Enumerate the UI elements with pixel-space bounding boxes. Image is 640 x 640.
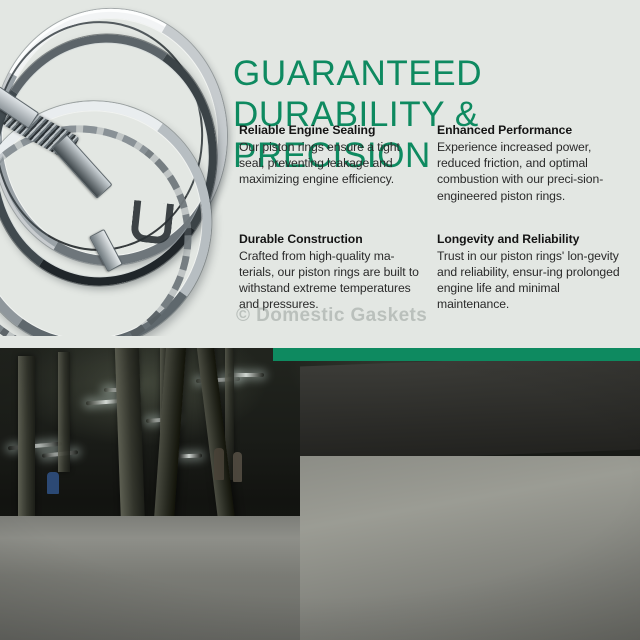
piston-ring-product-image [0,6,236,336]
feature-title: Reliable Engine Sealing [239,122,426,138]
factory-back-wall [300,353,640,462]
worker-silhouette [214,448,224,480]
feature-grid: Reliable Engine Sealing Our piston rings… [239,122,635,313]
feature-row: Durable Construction Crafted from high-q… [239,231,635,313]
promo-poster: GUARANTEED DURABILITY & PRECISION Reliab… [0,0,640,640]
feature-item-enhanced-performance: Enhanced Performance Experience increase… [437,122,635,204]
feature-row: Reliable Engine Sealing Our piston rings… [239,122,635,204]
structural-beam [18,356,35,516]
feature-body: Trust in our piston rings' lon-gevity an… [437,248,624,313]
top-content-panel: GUARANTEED DURABILITY & PRECISION Reliab… [0,0,640,348]
green-accent-band [273,348,640,361]
worker-silhouette [47,472,59,494]
feature-title: Enhanced Performance [437,122,624,138]
factory-photo: 15 [0,348,640,640]
feature-body: Our piston rings ensure a tight seal, pr… [239,139,426,188]
feature-item-durable-construction: Durable Construction Crafted from high-q… [239,231,437,313]
feature-body: Crafted from high-quality ma-terials, ou… [239,248,426,313]
feature-item-longevity-and-reliability: Longevity and Reliability Trust in our p… [437,231,635,313]
concrete-floor-right [300,456,640,640]
feature-item-reliable-engine-sealing: Reliable Engine Sealing Our piston rings… [239,122,437,204]
feature-body: Experience increased power, reduced fric… [437,139,624,204]
feature-title: Durable Construction [239,231,426,247]
ring-end-gap [130,200,174,245]
structural-beam [58,352,70,472]
worker-silhouette [233,452,242,482]
feature-title: Longevity and Reliability [437,231,624,247]
